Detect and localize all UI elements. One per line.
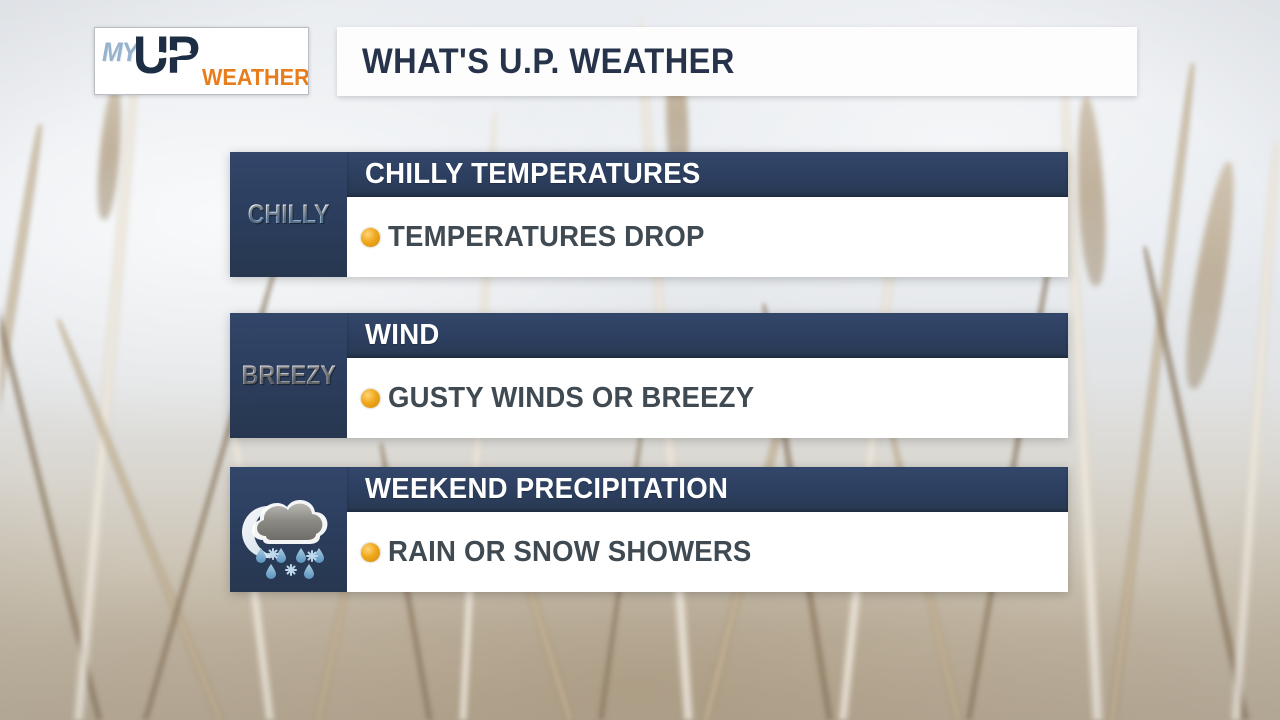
panel-header-text: WEEKEND PRECIPITATION bbox=[365, 473, 728, 506]
panel-header-text: CHILLY TEMPERATURES bbox=[365, 158, 701, 191]
bullet-icon bbox=[361, 389, 380, 408]
panel-header-text: WIND bbox=[365, 319, 440, 352]
breezy-word-icon: BREEZY bbox=[241, 362, 335, 389]
page-title: WHAT'S U.P. WEATHER bbox=[362, 42, 735, 82]
panel-bullet-text: GUSTY WINDS OR BREEZY bbox=[388, 382, 754, 415]
chilly-word-icon: CHILLY bbox=[248, 201, 330, 228]
logo-weather-text: WEATHER bbox=[202, 64, 309, 91]
station-logo[interactable]: MY UP WEATHER bbox=[94, 27, 309, 95]
bullet-icon bbox=[361, 228, 380, 247]
panel-icon-column: CHILLY bbox=[230, 152, 347, 277]
panel-content: WIND GUSTY WINDS OR BREEZY bbox=[347, 313, 1068, 438]
cloud-moon-rain-snow-icon bbox=[237, 474, 341, 586]
panel-body: RAIN OR SNOW SHOWERS bbox=[347, 512, 1068, 592]
bullet-icon bbox=[361, 543, 380, 562]
panel-header: WIND bbox=[347, 313, 1068, 358]
panel-body: GUSTY WINDS OR BREEZY bbox=[347, 358, 1068, 438]
panel-content: WEEKEND PRECIPITATION RAIN OR SNOW SHOWE… bbox=[347, 467, 1068, 592]
panel-content: CHILLY TEMPERATURES TEMPERATURES DROP bbox=[347, 152, 1068, 277]
panel-body: TEMPERATURES DROP bbox=[347, 197, 1068, 277]
panel-bullet-text: RAIN OR SNOW SHOWERS bbox=[388, 536, 751, 569]
panel-icon-column bbox=[230, 467, 347, 592]
panel-header: WEEKEND PRECIPITATION bbox=[347, 467, 1068, 512]
logo-up-text: UP bbox=[133, 29, 197, 82]
weather-graphic-screen: MY UP WEATHER WHAT'S U.P. WEATHER CHILLY… bbox=[0, 0, 1280, 720]
panel-bullet-text: TEMPERATURES DROP bbox=[388, 221, 705, 254]
title-bar: WHAT'S U.P. WEATHER bbox=[337, 27, 1137, 96]
panel-header: CHILLY TEMPERATURES bbox=[347, 152, 1068, 197]
panel-icon-column: BREEZY bbox=[230, 313, 347, 438]
